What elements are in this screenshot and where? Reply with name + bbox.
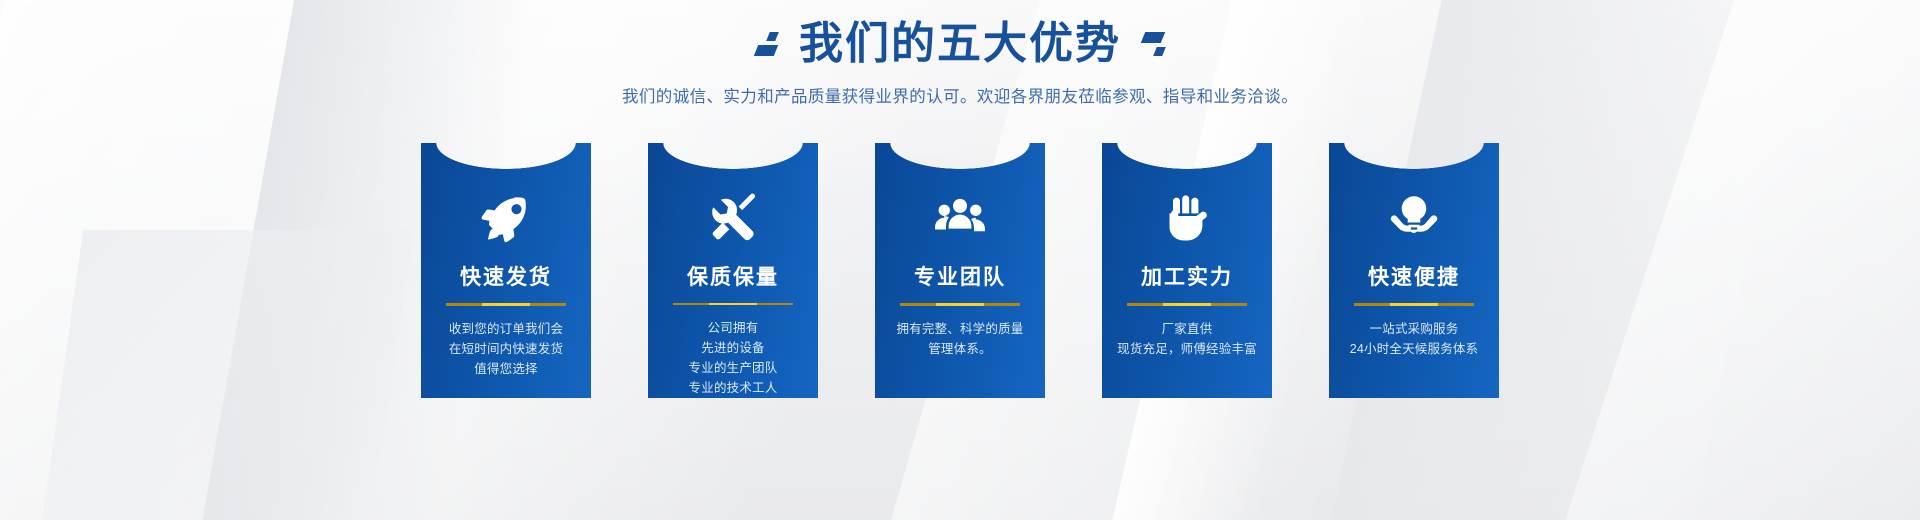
page-title: 我们的五大优势 bbox=[799, 16, 1121, 71]
advantage-card-title: 保质保量 bbox=[687, 261, 779, 291]
gold-divider bbox=[446, 303, 566, 306]
fist-icon bbox=[1159, 191, 1215, 247]
advantage-card-description-line: 一站式采购服务 bbox=[1330, 319, 1498, 339]
advantage-card-description-line: 现货充足，师傅经验丰富 bbox=[1103, 339, 1271, 359]
advantage-card-title: 快速发货 bbox=[460, 261, 552, 291]
advantage-card-description-line: 24小时全天候服务体系 bbox=[1330, 339, 1498, 359]
advantage-card-description: 公司拥有先进的设备专业的生产团队专业的技术工人 bbox=[649, 318, 817, 398]
advantage-card[interactable]: 保质保量公司拥有先进的设备专业的生产团队专业的技术工人 bbox=[648, 143, 818, 398]
advantage-card-title: 加工实力 bbox=[1141, 261, 1233, 291]
gold-divider bbox=[1354, 303, 1474, 306]
decorative-slash-mark-right-icon bbox=[1143, 32, 1164, 56]
advantage-card-list: 快速发货收到您的订单我们会在短时间内快速发货值得您选择保质保量公司拥有先进的设备… bbox=[0, 143, 1920, 398]
advantage-card-description-line: 收到您的订单我们会 bbox=[422, 319, 590, 339]
advantage-card-description: 拥有完整、科学的质量管理体系。 bbox=[876, 319, 1044, 359]
rocket-icon bbox=[478, 191, 534, 247]
gold-divider bbox=[673, 303, 793, 305]
team-group-icon bbox=[932, 191, 988, 247]
advantage-card-title: 专业团队 bbox=[914, 261, 1006, 291]
advantage-card-description-line: 专业的生产团队 bbox=[649, 358, 817, 378]
advantage-card-description-line: 在短时间内快速发货 bbox=[422, 339, 590, 359]
advantage-card-description-line: 专业的技术工人 bbox=[649, 378, 817, 398]
advantage-card[interactable]: 加工实力厂家直供现货充足，师傅经验丰富 bbox=[1102, 143, 1272, 398]
advantage-card[interactable]: 专业团队拥有完整、科学的质量管理体系。 bbox=[875, 143, 1045, 398]
advantage-card[interactable]: 快速发货收到您的订单我们会在短时间内快速发货值得您选择 bbox=[421, 143, 591, 398]
hands-lightbulb-icon bbox=[1386, 191, 1442, 247]
advantage-card-description-line: 拥有完整、科学的质量 bbox=[876, 319, 1044, 339]
advantage-card[interactable]: 快速便捷一站式采购服务24小时全天候服务体系 bbox=[1329, 143, 1499, 398]
wrench-screwdriver-icon bbox=[705, 191, 761, 247]
gold-divider bbox=[900, 303, 1020, 306]
advantage-card-description-line: 管理体系。 bbox=[876, 339, 1044, 359]
section-subtitle: 我们的诚信、实力和产品质量获得业界的认可。欢迎各界朋友莅临参观、指导和业务洽谈。 bbox=[0, 83, 1920, 107]
advantage-card-description-line: 先进的设备 bbox=[649, 338, 817, 358]
advantage-card-description-line: 厂家直供 bbox=[1103, 319, 1271, 339]
advantage-card-description: 一站式采购服务24小时全天候服务体系 bbox=[1330, 319, 1498, 359]
section-header: 我们的五大优势 我们的诚信、实力和产品质量获得业界的认可。欢迎各界朋友莅临参观、… bbox=[0, 0, 1920, 107]
advantage-card-description: 厂家直供现货充足，师傅经验丰富 bbox=[1103, 319, 1271, 359]
advantage-card-description: 收到您的订单我们会在短时间内快速发货值得您选择 bbox=[422, 319, 590, 379]
advantage-card-description-line: 值得您选择 bbox=[422, 359, 590, 379]
advantage-card-description-line: 公司拥有 bbox=[649, 318, 817, 338]
advantage-card-title: 快速便捷 bbox=[1368, 261, 1460, 291]
gold-divider bbox=[1127, 303, 1247, 306]
decorative-slash-mark-left-icon bbox=[756, 32, 777, 56]
title-row: 我们的五大优势 bbox=[0, 0, 1920, 71]
advantages-banner: 我们的五大优势 我们的诚信、实力和产品质量获得业界的认可。欢迎各界朋友莅临参观、… bbox=[0, 0, 1920, 520]
